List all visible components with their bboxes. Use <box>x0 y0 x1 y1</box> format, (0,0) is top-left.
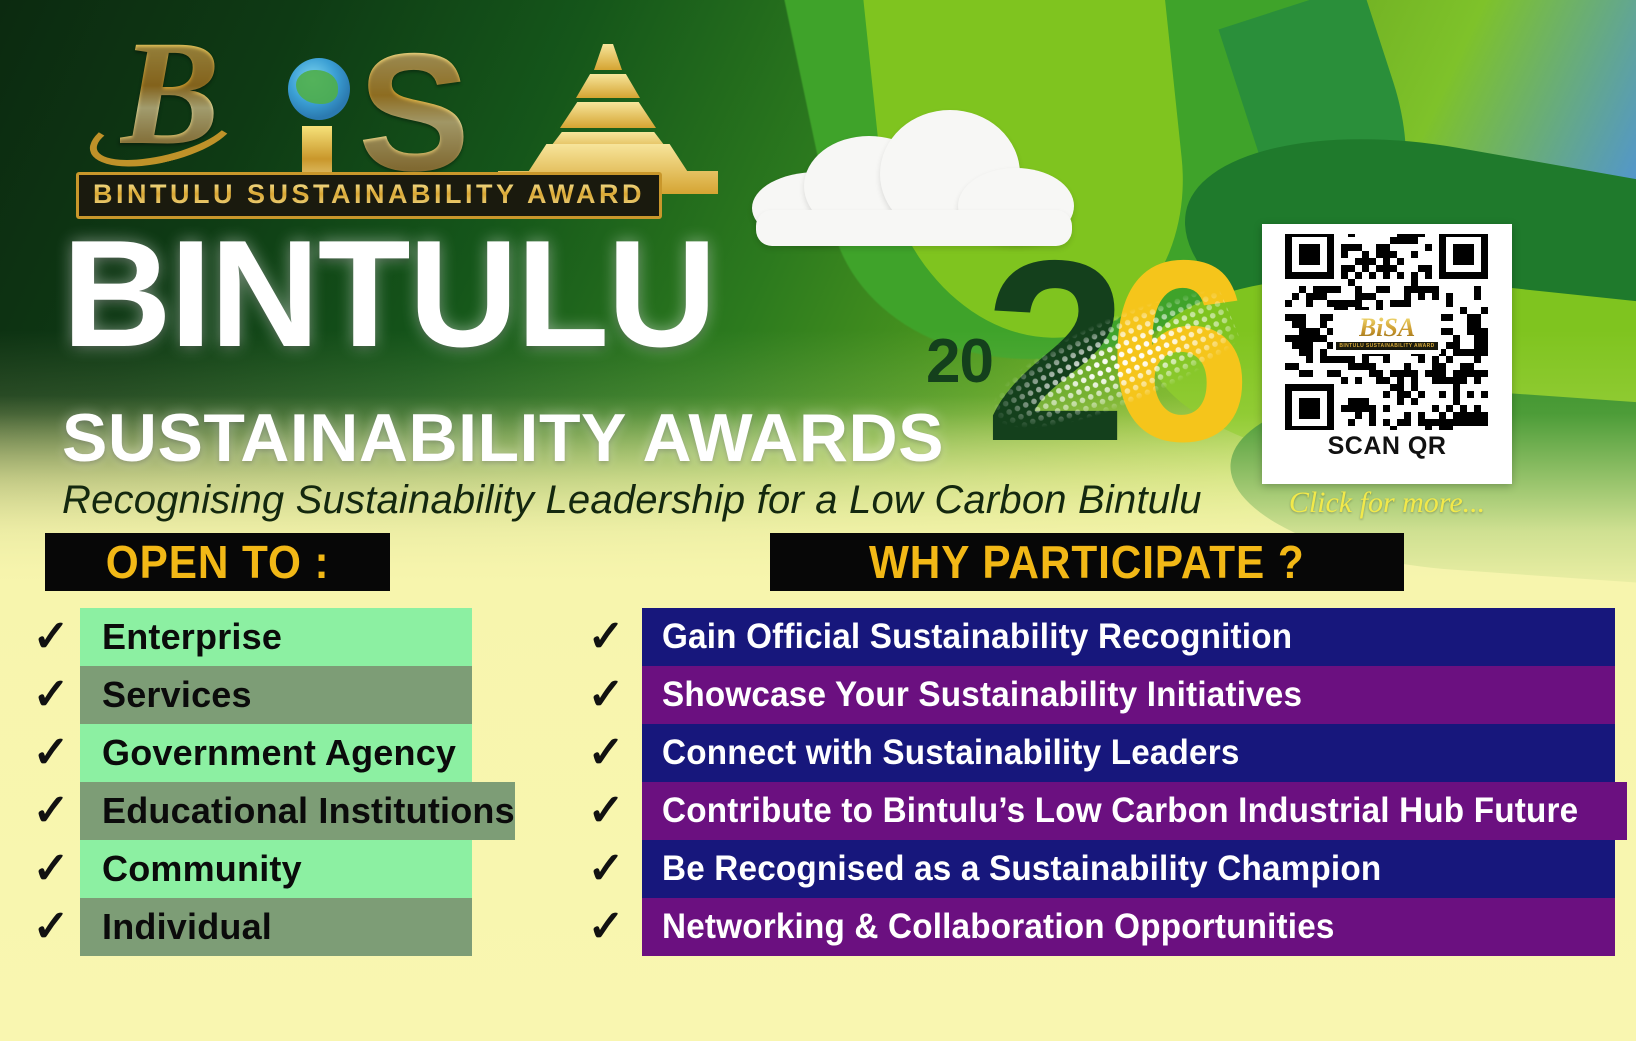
list-item-pill: Showcase Your Sustainability Initiatives <box>642 666 1615 724</box>
qr-logo-text: BiSA <box>1359 315 1415 341</box>
check-icon: ✓ <box>22 666 80 724</box>
list-item-pill: Contribute to Bintulu’s Low Carbon Indus… <box>642 782 1627 840</box>
check-icon: ✓ <box>22 782 80 840</box>
list-item-pill: Gain Official Sustainability Recognition <box>642 608 1615 666</box>
page-title: BINTULU <box>62 222 715 368</box>
list-item-pill: Community <box>80 840 472 898</box>
list-item: ✓Be Recognised as a Sustainability Champ… <box>570 840 1615 898</box>
check-icon: ✓ <box>22 724 80 782</box>
list-item: ✓Showcase Your Sustainability Initiative… <box>570 666 1615 724</box>
check-icon: ✓ <box>22 898 80 956</box>
list-item: ✓Gain Official Sustainability Recognitio… <box>570 608 1615 666</box>
list-item-pill: Educational Institutions <box>80 782 515 840</box>
globe-recycle-icon <box>288 58 350 120</box>
list-item-label: Connect with Sustainability Leaders <box>662 733 1240 773</box>
list-item-pill: Government Agency <box>80 724 472 782</box>
list-item-pill: Be Recognised as a Sustainability Champi… <box>642 840 1615 898</box>
year-graphic: 6 2 20 <box>912 238 1232 503</box>
list-item-pill: Enterprise <box>80 608 472 666</box>
list-item-label: Networking & Collaboration Opportunities <box>662 907 1335 947</box>
year-digit-2: 2 <box>984 248 1128 454</box>
list-item-label: Be Recognised as a Sustainability Champi… <box>662 849 1381 889</box>
list-item: ✓Educational Institutions <box>22 782 472 840</box>
list-item: ✓Enterprise <box>22 608 472 666</box>
why-participate-list: ✓Gain Official Sustainability Recognitio… <box>570 608 1615 956</box>
check-icon: ✓ <box>570 782 642 840</box>
list-item: ✓Individual <box>22 898 472 956</box>
list-item: ✓Services <box>22 666 472 724</box>
check-icon: ✓ <box>570 666 642 724</box>
list-item: ✓Contribute to Bintulu’s Low Carbon Indu… <box>570 782 1615 840</box>
logo-mark: B S <box>70 22 670 167</box>
list-item-label: Showcase Your Sustainability Initiatives <box>662 675 1302 715</box>
logo-letter-b: B <box>120 18 220 168</box>
why-participate-banner-label: WHY PARTICIPATE ? <box>869 535 1305 589</box>
list-item: ✓Networking & Collaboration Opportunitie… <box>570 898 1615 956</box>
qr-embedded-logo: BiSA BINTULU SUSTAINABILITY AWARD <box>1333 310 1441 354</box>
list-item: ✓Government Agency <box>22 724 472 782</box>
list-item-label: Educational Institutions <box>102 790 515 832</box>
list-item-label: Government Agency <box>102 732 456 774</box>
open-to-banner: OPEN TO : <box>45 533 390 591</box>
open-to-banner-label: OPEN TO : <box>106 535 330 589</box>
qr-code-card[interactable]: BiSA BINTULU SUSTAINABILITY AWARD SCAN Q… <box>1262 224 1512 484</box>
list-item-pill: Services <box>80 666 472 724</box>
list-item-label: Community <box>102 848 302 890</box>
open-to-list: ✓Enterprise✓Services✓Government Agency✓E… <box>22 608 472 956</box>
list-item-label: Contribute to Bintulu’s Low Carbon Indus… <box>662 791 1578 831</box>
check-icon: ✓ <box>570 724 642 782</box>
scan-qr-label: SCAN QR <box>1272 432 1502 461</box>
click-for-more-link[interactable]: Click for more... <box>1262 486 1512 520</box>
list-item: ✓Community <box>22 840 472 898</box>
year-digit-6: 6 <box>1108 248 1252 454</box>
list-item: ✓Connect with Sustainability Leaders <box>570 724 1615 782</box>
qr-logo-bar-text: BINTULU SUSTAINABILITY AWARD <box>1336 342 1437 350</box>
list-item-label: Services <box>102 674 252 716</box>
bisa-logo: B S BINTULU SUSTAINABILITY AWARD <box>70 22 670 212</box>
check-icon: ✓ <box>22 608 80 666</box>
page-subtitle: SUSTAINABILITY AWARDS <box>62 404 944 472</box>
logo-wordmark-text: BINTULU SUSTAINABILITY AWARD <box>93 179 645 209</box>
why-participate-banner: WHY PARTICIPATE ? <box>770 533 1404 591</box>
list-item-pill: Individual <box>80 898 472 956</box>
check-icon: ✓ <box>22 840 80 898</box>
list-item-label: Gain Official Sustainability Recognition <box>662 617 1292 657</box>
qr-code-image[interactable]: BiSA BINTULU SUSTAINABILITY AWARD <box>1272 234 1502 430</box>
list-item-pill: Networking & Collaboration Opportunities <box>642 898 1615 956</box>
check-icon: ✓ <box>570 898 642 956</box>
poster-root: B S BINTULU SUSTAINABILITY AWARD BINTULU… <box>0 0 1636 1041</box>
logo-letter-s: S <box>358 28 464 196</box>
year-prefix-20: 20 <box>926 326 993 397</box>
list-item-label: Individual <box>102 906 272 948</box>
check-icon: ✓ <box>570 608 642 666</box>
list-item-label: Enterprise <box>102 616 282 658</box>
check-icon: ✓ <box>570 840 642 898</box>
list-item-pill: Connect with Sustainability Leaders <box>642 724 1615 782</box>
